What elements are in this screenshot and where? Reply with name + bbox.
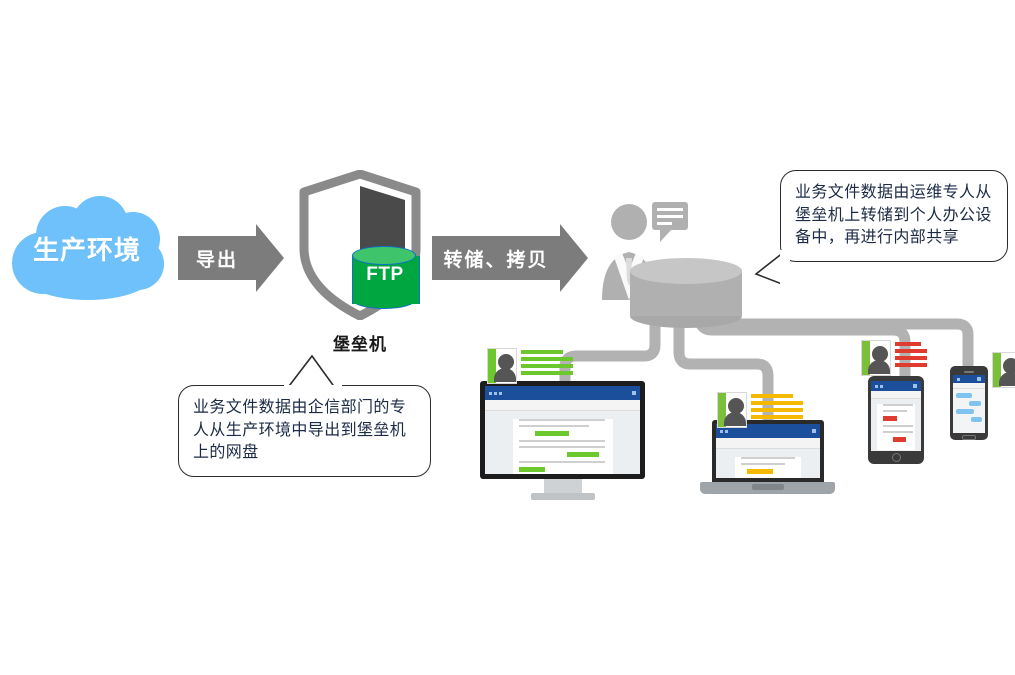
contact-card-tablet <box>861 340 927 376</box>
device-desktop-monitor[interactable] <box>480 381 645 493</box>
speaker-icon <box>964 371 974 373</box>
cloud-label: 生产环境 <box>8 192 166 304</box>
diagram-canvas: 生产环境 导出 FTP 堡垒机 转储、拷贝 <box>0 0 1015 675</box>
ftp-storage-cylinder: FTP <box>352 246 418 312</box>
contact-card-phone <box>992 352 1015 388</box>
avatar-icon <box>717 392 747 428</box>
device-tablet[interactable] <box>868 376 924 464</box>
home-button-icon <box>962 435 976 440</box>
avatar-icon <box>861 340 891 376</box>
contact-card-laptop <box>717 392 803 428</box>
avatar-icon <box>992 352 1015 388</box>
contact-card-desktop <box>487 348 573 384</box>
office-device-storage-server <box>630 258 742 324</box>
production-environment-cloud: 生产环境 <box>8 192 166 304</box>
callout-left: 业务文件数据由企信部门的专人从生产环境中导出到堡垒机上的网盘 <box>178 385 431 477</box>
callout-right: 业务文件数据由运维专人从堡垒机上转储到个人办公设备中，再进行内部共享 <box>780 170 1008 262</box>
device-laptop[interactable] <box>700 420 835 500</box>
callout-left-tail <box>272 352 354 394</box>
ftp-label: FTP <box>352 264 418 286</box>
home-button-icon <box>892 453 901 462</box>
avatar-icon <box>487 348 517 384</box>
connector-pipes <box>0 0 1015 675</box>
callout-right-tail <box>752 248 792 306</box>
device-phone[interactable] <box>950 366 988 440</box>
